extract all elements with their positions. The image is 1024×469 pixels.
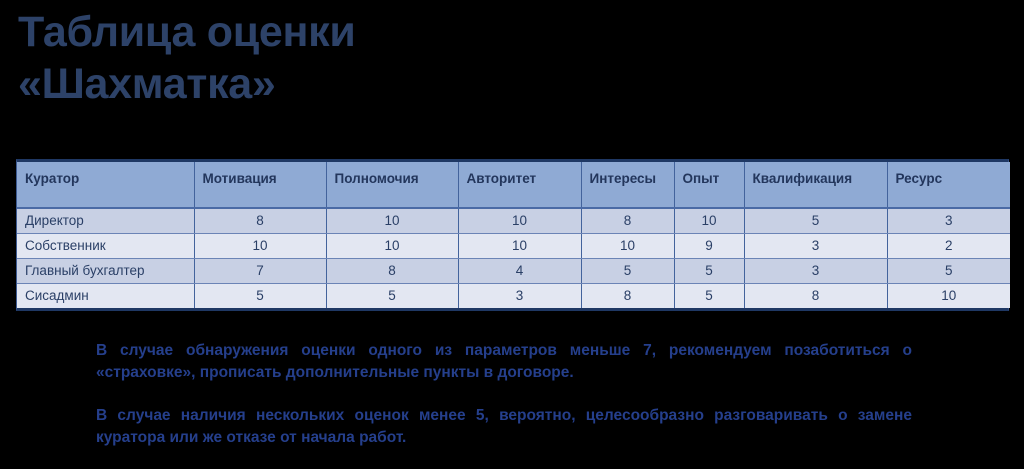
cell-value: 3 (744, 258, 887, 283)
column-header-authority: Полномочия (326, 162, 458, 208)
cell-value: 8 (581, 208, 674, 233)
cell-value: 8 (194, 208, 326, 233)
table-row: Главный бухгалтер 7 8 4 5 5 3 5 (17, 258, 1010, 283)
cell-value: 4 (458, 258, 581, 283)
cell-value: 8 (581, 283, 674, 308)
table-row: Сисадмин 5 5 3 8 5 8 10 (17, 283, 1010, 308)
cell-value: 10 (194, 233, 326, 258)
cell-value: 8 (326, 258, 458, 283)
cell-value: 3 (744, 233, 887, 258)
cell-value: 5 (194, 283, 326, 308)
score-table: Куратор Мотивация Полномочия Авторитет И… (17, 162, 1010, 308)
cell-value: 3 (458, 283, 581, 308)
column-header-curator: Куратор (17, 162, 194, 208)
row-label: Директор (17, 208, 194, 233)
cell-value: 8 (744, 283, 887, 308)
table-row: Собственник 10 10 10 10 9 3 2 (17, 233, 1010, 258)
cell-value: 9 (674, 233, 744, 258)
cell-value: 5 (744, 208, 887, 233)
column-header-interests: Интересы (581, 162, 674, 208)
cell-value: 3 (887, 208, 1010, 233)
cell-value: 5 (326, 283, 458, 308)
cell-value: 5 (674, 258, 744, 283)
note-paragraph-1: В случае обнаружения оценки одного из па… (96, 340, 912, 385)
cell-value: 7 (194, 258, 326, 283)
cell-value: 10 (326, 208, 458, 233)
cell-value: 10 (326, 233, 458, 258)
table-header-row: Куратор Мотивация Полномочия Авторитет И… (17, 162, 1010, 208)
cell-value: 5 (887, 258, 1010, 283)
cell-value: 2 (887, 233, 1010, 258)
cell-value: 10 (674, 208, 744, 233)
column-header-qualification: Квалификация (744, 162, 887, 208)
column-header-motivation: Мотивация (194, 162, 326, 208)
column-header-influence: Авторитет (458, 162, 581, 208)
notes-block: В случае обнаружения оценки одного из па… (96, 340, 912, 450)
column-header-experience: Опыт (674, 162, 744, 208)
note-paragraph-2: В случае наличия нескольких оценок менее… (96, 405, 912, 450)
table-row: Директор 8 10 10 8 10 5 3 (17, 208, 1010, 233)
score-table-container: Куратор Мотивация Полномочия Авторитет И… (16, 159, 1009, 311)
cell-value: 5 (674, 283, 744, 308)
row-label: Сисадмин (17, 283, 194, 308)
cell-value: 10 (458, 233, 581, 258)
row-label: Главный бухгалтер (17, 258, 194, 283)
cell-value: 10 (887, 283, 1010, 308)
cell-value: 10 (581, 233, 674, 258)
page-title: Таблица оценки «Шахматка» (18, 6, 718, 111)
cell-value: 5 (581, 258, 674, 283)
row-label: Собственник (17, 233, 194, 258)
column-header-resource: Ресурс (887, 162, 1010, 208)
cell-value: 10 (458, 208, 581, 233)
